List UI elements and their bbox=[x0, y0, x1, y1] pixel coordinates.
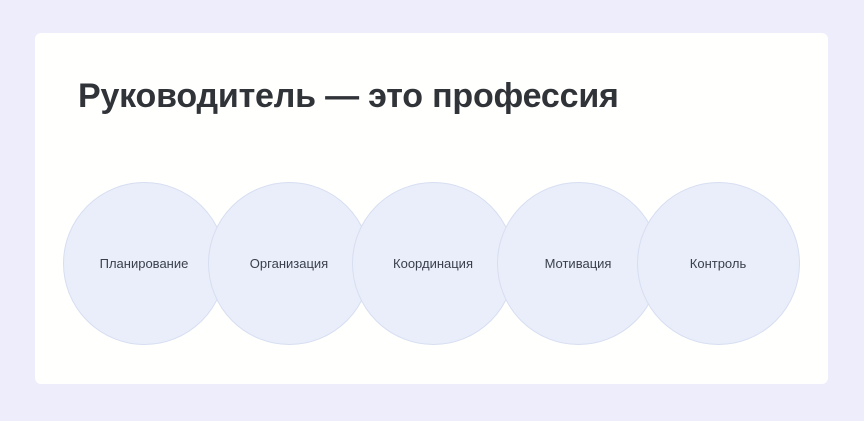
slide-card: Руководитель — это профессия Планировани… bbox=[35, 33, 828, 384]
process-circle-label: Планирование bbox=[100, 257, 189, 270]
page-title: Руководитель — это профессия bbox=[78, 76, 619, 116]
slide-root: Руководитель — это профессия Планировани… bbox=[0, 0, 864, 421]
process-circle-label: Координация bbox=[393, 257, 473, 270]
process-circle[interactable]: Координация bbox=[352, 182, 515, 345]
process-circle[interactable]: Мотивация bbox=[497, 182, 660, 345]
process-circle-label: Мотивация bbox=[545, 257, 612, 270]
process-circle[interactable]: Контроль bbox=[637, 182, 800, 345]
process-circle[interactable]: Организация bbox=[208, 182, 371, 345]
process-circle[interactable]: Планирование bbox=[63, 182, 226, 345]
process-circle-label: Организация bbox=[250, 257, 328, 270]
process-circle-label: Контроль bbox=[690, 257, 746, 270]
